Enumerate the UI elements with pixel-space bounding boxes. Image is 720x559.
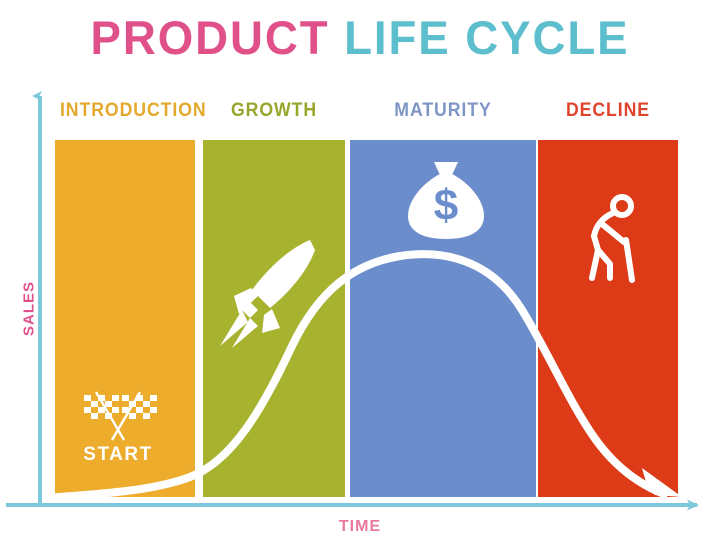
elderly-person-walking-icon	[580, 192, 652, 284]
stage-label-growth: GROWTH	[208, 100, 340, 122]
product-life-cycle-infographic: PRODUCT LIFE CYCLE INTRODUCTION GROWTH M…	[0, 0, 720, 559]
introduction-icon-group: START	[62, 388, 174, 474]
page-title: PRODUCT LIFE CYCLE	[11, 8, 709, 68]
stage-label-maturity: MATURITY	[357, 100, 530, 122]
y-axis-label: SALES	[21, 274, 38, 344]
title-part-product: PRODUCT	[91, 11, 330, 64]
stage-label-introduction: INTRODUCTION	[60, 100, 192, 122]
x-axis-label: TIME	[290, 518, 430, 536]
money-bag-dollar-symbol: $	[434, 181, 458, 230]
stage-label-decline: DECLINE	[543, 100, 673, 122]
rocket-icon	[218, 238, 318, 350]
checkered-flags-icon	[62, 388, 174, 448]
title-part-life-cycle: LIFE CYCLE	[344, 11, 629, 64]
money-bag-icon: $	[400, 158, 492, 242]
start-label: START	[62, 444, 174, 466]
